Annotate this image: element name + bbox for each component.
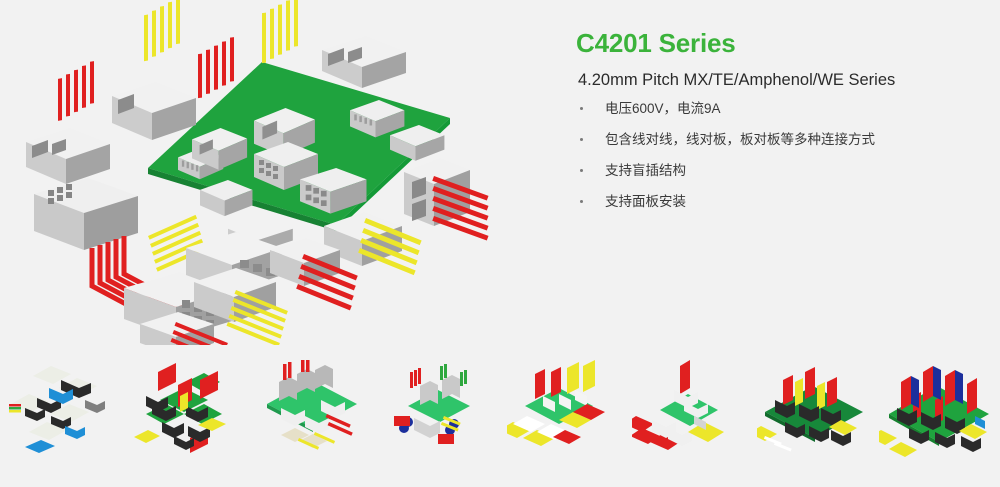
feature-item: 支持盲插结构 — [578, 162, 984, 179]
thumbnail-connector-family-2[interactable] — [125, 356, 250, 461]
hero-illustration-svg — [0, 0, 560, 345]
bullet-icon — [580, 169, 583, 172]
thumbnail-connector-family-8[interactable] — [875, 356, 1000, 461]
product-banner: C4201 Series 4.20mm Pitch MX/TE/Amphenol… — [0, 0, 1000, 487]
thumb-5-icon — [507, 360, 619, 456]
connector-top-left-red — [26, 61, 110, 184]
thumb-2-icon — [132, 360, 244, 456]
feature-item: 支持面板安装 — [578, 193, 984, 210]
thumbnail-strip — [0, 348, 1000, 468]
connector-top-right-red — [322, 0, 406, 88]
page-title: C4201 Series — [576, 28, 984, 58]
product-subtitle: 4.20mm Pitch MX/TE/Amphenol/WE Series — [578, 70, 984, 90]
thumb-3-icon — [257, 360, 369, 456]
feature-label: 包含线对线，线对板，板对板等多种连接方式 — [605, 132, 875, 147]
thumb-7-icon — [757, 360, 869, 456]
bullet-icon — [580, 200, 583, 203]
thumb-4-icon — [382, 360, 494, 456]
thumbnail-connector-family-7[interactable] — [750, 356, 875, 461]
thumb-1-icon — [7, 360, 119, 456]
bullet-icon — [580, 107, 583, 110]
feature-list: 电压600V，电流9A 包含线对线，线对板，板对板等多种连接方式 支持盲插结构 … — [572, 100, 984, 210]
bullet-icon — [580, 138, 583, 141]
product-info-panel: C4201 Series 4.20mm Pitch MX/TE/Amphenol… — [572, 28, 984, 224]
thumbnail-connector-family-5[interactable] — [500, 356, 625, 461]
feature-item: 电压600V，电流9A — [578, 100, 984, 117]
feature-label: 电压600V，电流9A — [605, 101, 721, 116]
thumb-6-icon — [632, 360, 744, 456]
connector-top-yellow — [112, 0, 196, 140]
feature-item: 包含线对线，线对板，板对板等多种连接方式 — [578, 131, 984, 148]
feature-label: 支持盲插结构 — [605, 163, 686, 178]
thumb-8-icon — [879, 358, 997, 458]
thumbnail-connector-family-3[interactable] — [250, 356, 375, 461]
thumbnail-connector-family-4[interactable] — [375, 356, 500, 461]
thumbnail-connector-family-6[interactable] — [625, 356, 750, 461]
thumbnail-connector-family-1[interactable] — [0, 356, 125, 461]
hero-product-illustration — [0, 0, 560, 345]
connector-right-panel-mount — [404, 158, 489, 241]
feature-label: 支持面板安装 — [605, 194, 686, 209]
